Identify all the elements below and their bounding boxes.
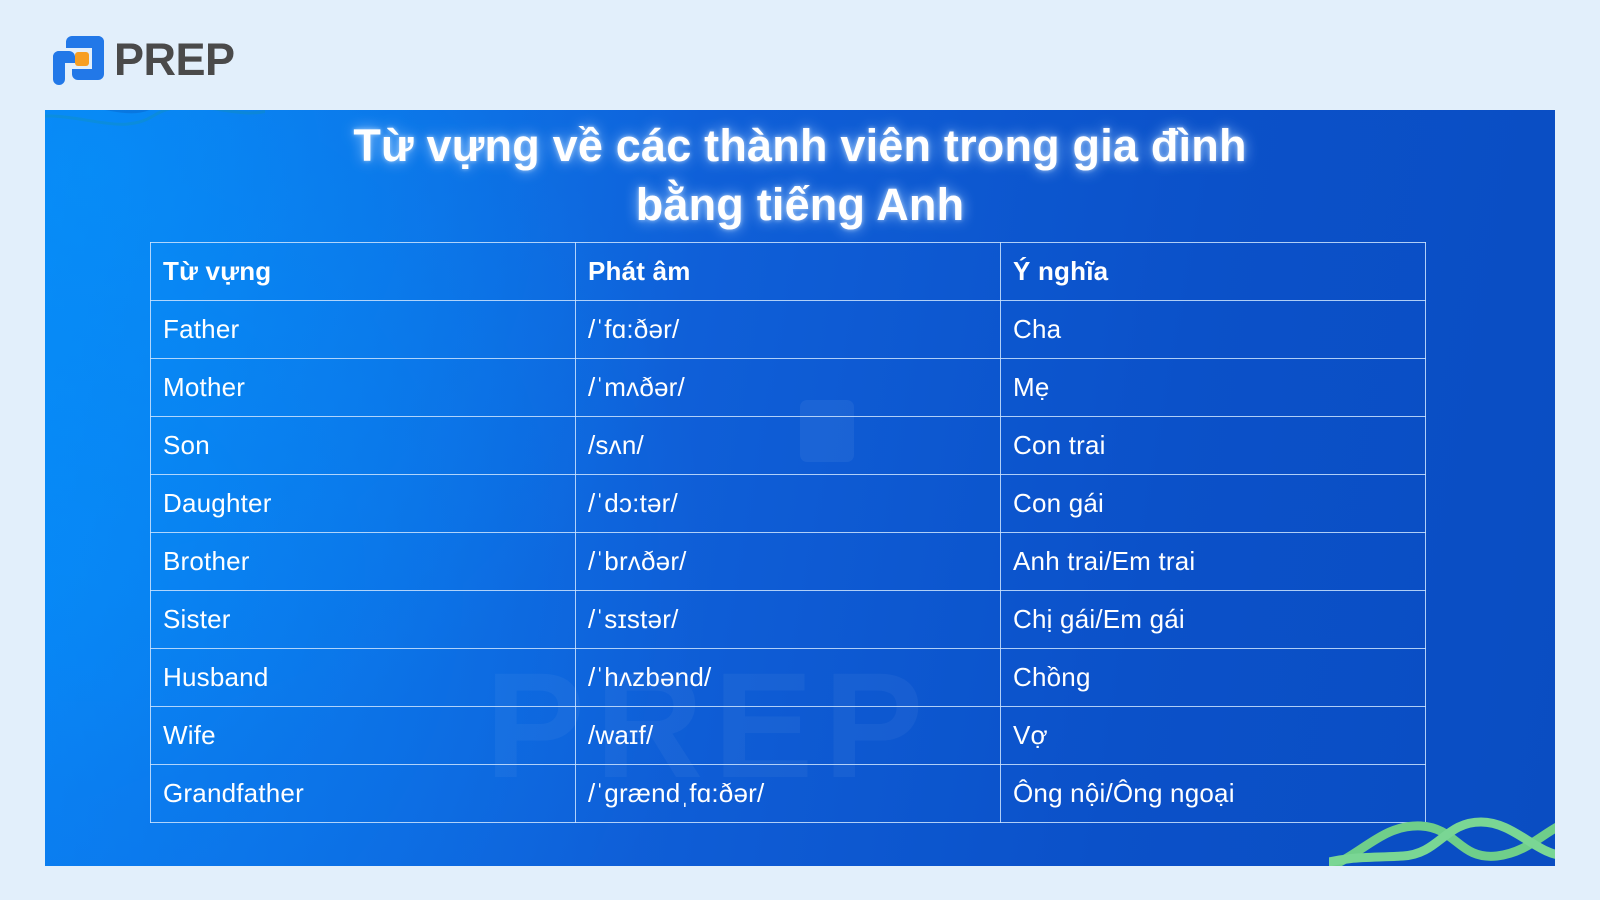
title-line-1: Từ vựng về các thành viên trong gia đình [45,116,1555,175]
vocabulary-table: Từ vựng Phát âm Ý nghĩa Father /ˈfɑ:ðər/… [150,242,1426,823]
cell-meaning: Con trai [1001,417,1426,475]
cell-meaning: Cha [1001,301,1426,359]
table-row: Wife /waɪf/ Vợ [151,707,1426,765]
cell-word: Wife [151,707,576,765]
cell-word: Mother [151,359,576,417]
table-row: Father /ˈfɑ:ðər/ Cha [151,301,1426,359]
cell-word: Brother [151,533,576,591]
brand-name: PREP [114,37,235,82]
cell-meaning: Con gái [1001,475,1426,533]
table-row: Son /sʌn/ Con trai [151,417,1426,475]
green-ribbon-decoration [1329,752,1555,866]
cell-word: Husband [151,649,576,707]
cell-ipa: /ˈbrʌðər/ [576,533,1001,591]
cell-meaning: Chồng [1001,649,1426,707]
cell-ipa: /ˈhʌzbənd/ [576,649,1001,707]
title-line-2: bằng tiếng Anh [45,175,1555,234]
cell-ipa: /ˈdɔ:tər/ [576,475,1001,533]
cell-ipa: /ˈfɑ:ðər/ [576,301,1001,359]
content-panel: PREP Từ vựng về các thành viên trong gia… [45,110,1555,866]
cell-word: Daughter [151,475,576,533]
column-header-meaning: Ý nghĩa [1001,243,1426,301]
vocabulary-table-wrapper: Từ vựng Phát âm Ý nghĩa Father /ˈfɑ:ðər/… [150,242,1425,823]
cell-ipa: /ˈsɪstər/ [576,591,1001,649]
cell-word: Grandfather [151,765,576,823]
cell-word: Father [151,301,576,359]
table-row: Brother /ˈbrʌðər/ Anh trai/Em trai [151,533,1426,591]
cell-ipa: /ˈmʌðər/ [576,359,1001,417]
table-header-row: Từ vựng Phát âm Ý nghĩa [151,243,1426,301]
cell-meaning: Anh trai/Em trai [1001,533,1426,591]
cell-word: Son [151,417,576,475]
table-row: Daughter /ˈdɔ:tər/ Con gái [151,475,1426,533]
table-row: Mother /ˈmʌðər/ Mẹ [151,359,1426,417]
table-row: Grandfather /ˈgrændˌfɑ:ðər/ Ông nội/Ông … [151,765,1426,823]
prep-logo-icon [52,33,104,85]
column-header-word: Từ vựng [151,243,576,301]
cell-meaning: Chị gái/Em gái [1001,591,1426,649]
page-title: Từ vựng về các thành viên trong gia đình… [45,116,1555,235]
cell-ipa: /sʌn/ [576,417,1001,475]
cell-ipa: /waɪf/ [576,707,1001,765]
column-header-ipa: Phát âm [576,243,1001,301]
slide-canvas: PREP PREP Từ vựng về các thành viên tron… [0,0,1600,900]
brand-logo[interactable]: PREP [52,33,235,85]
table-row: Husband /ˈhʌzbənd/ Chồng [151,649,1426,707]
cell-word: Sister [151,591,576,649]
cell-meaning: Mẹ [1001,359,1426,417]
table-row: Sister /ˈsɪstər/ Chị gái/Em gái [151,591,1426,649]
cell-ipa: /ˈgrændˌfɑ:ðər/ [576,765,1001,823]
vocabulary-table-body: Father /ˈfɑ:ðər/ Cha Mother /ˈmʌðər/ Mẹ … [151,301,1426,823]
